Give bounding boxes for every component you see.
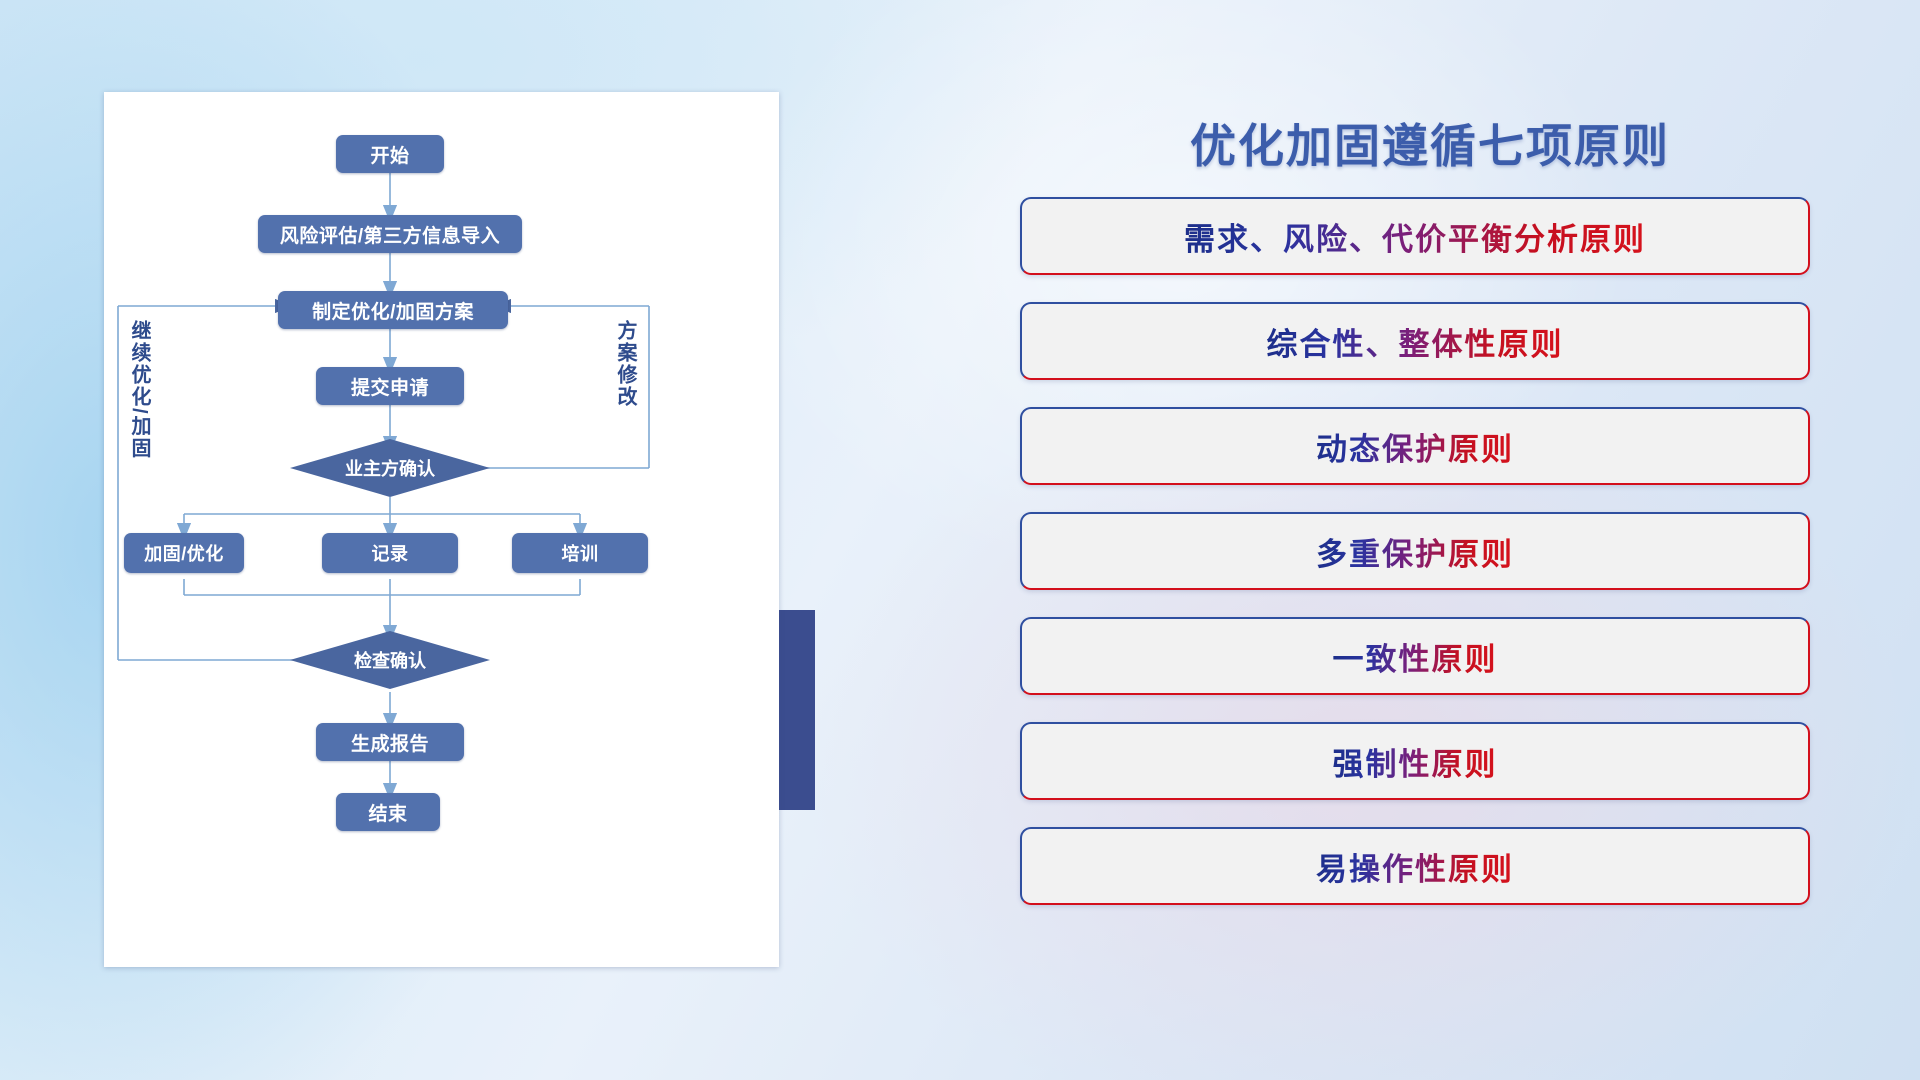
flow-node-label: 生成报告 <box>351 729 429 756</box>
principles-title: 优化加固遵循七项原则 <box>1020 110 1840 176</box>
flow-node-submit[interactable]: 提交申请 <box>316 367 464 405</box>
principle-label: 多重保护原则 <box>1316 529 1514 574</box>
flow-node-label: 业主方确认 <box>345 455 435 481</box>
flow-node-label: 培训 <box>562 540 599 566</box>
principle-card[interactable]: 一致性原则 <box>1020 617 1810 695</box>
flow-node-label: 记录 <box>372 540 409 566</box>
slide-root: 开始 风险评估/第三方信息导入 制定优化/加固方案 提交申请 业主方确认 加固/… <box>0 0 1920 1080</box>
flow-node-risk-assessment[interactable]: 风险评估/第三方信息导入 <box>258 215 522 253</box>
flow-node-label: 结束 <box>368 799 407 826</box>
flow-edge-label-right: 方案修改 <box>614 320 635 408</box>
flow-node-start[interactable]: 开始 <box>336 135 444 173</box>
principle-card[interactable]: 易操作性原则 <box>1020 827 1810 905</box>
principle-label: 一致性原则 <box>1333 634 1498 679</box>
flow-node-label: 提交申请 <box>351 373 429 400</box>
flow-node-label: 加固/优化 <box>144 540 224 566</box>
flow-node-label: 风险评估/第三方信息导入 <box>280 221 500 248</box>
principle-label: 动态保护原则 <box>1316 424 1514 469</box>
principle-card[interactable]: 强制性原则 <box>1020 722 1810 800</box>
principle-card[interactable]: 多重保护原则 <box>1020 512 1810 590</box>
flow-node-report[interactable]: 生成报告 <box>316 723 464 761</box>
principle-card[interactable]: 动态保护原则 <box>1020 407 1810 485</box>
principle-card[interactable]: 需求、风险、代价平衡分析原则 <box>1020 197 1810 275</box>
flow-node-record[interactable]: 记录 <box>322 533 458 573</box>
principle-label: 强制性原则 <box>1333 739 1498 784</box>
flow-node-plan[interactable]: 制定优化/加固方案 <box>278 291 508 329</box>
flow-node-label: 制定优化/加固方案 <box>312 297 474 324</box>
principle-label: 综合性、整体性原则 <box>1267 319 1564 364</box>
flow-node-training[interactable]: 培训 <box>512 533 648 573</box>
principles-panel: 优化加固遵循七项原则 需求、风险、代价平衡分析原则 综合性、整体性原则 动态保护… <box>1020 92 1840 1012</box>
flow-edge-label-left: 继续优化/加固 <box>128 320 149 460</box>
flow-node-reinforce[interactable]: 加固/优化 <box>124 533 244 573</box>
flowchart-card: 开始 风险评估/第三方信息导入 制定优化/加固方案 提交申请 业主方确认 加固/… <box>104 92 779 967</box>
principle-label: 易操作性原则 <box>1316 844 1514 889</box>
principle-label: 需求、风险、代价平衡分析原则 <box>1184 214 1646 259</box>
flow-node-label: 检查确认 <box>354 647 426 673</box>
flow-node-end[interactable]: 结束 <box>336 793 440 831</box>
flow-node-label: 开始 <box>370 141 409 168</box>
principle-card[interactable]: 综合性、整体性原则 <box>1020 302 1810 380</box>
